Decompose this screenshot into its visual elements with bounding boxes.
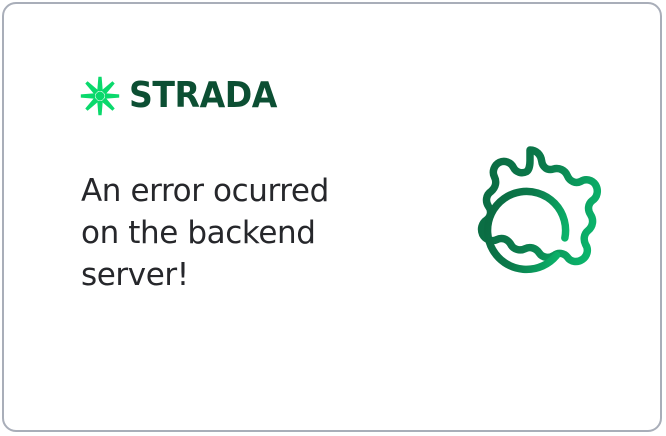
gear-inner-arc <box>488 191 566 269</box>
strada-asterisk-icon <box>80 76 120 116</box>
gear-icon <box>447 140 613 306</box>
error-message: An error ocurred on the backend server! <box>81 170 381 296</box>
error-card: STRADA An error ocurred on the backend s… <box>2 2 662 432</box>
brand-wordmark: STRADA <box>129 78 277 114</box>
brand-logo: STRADA <box>80 74 290 118</box>
